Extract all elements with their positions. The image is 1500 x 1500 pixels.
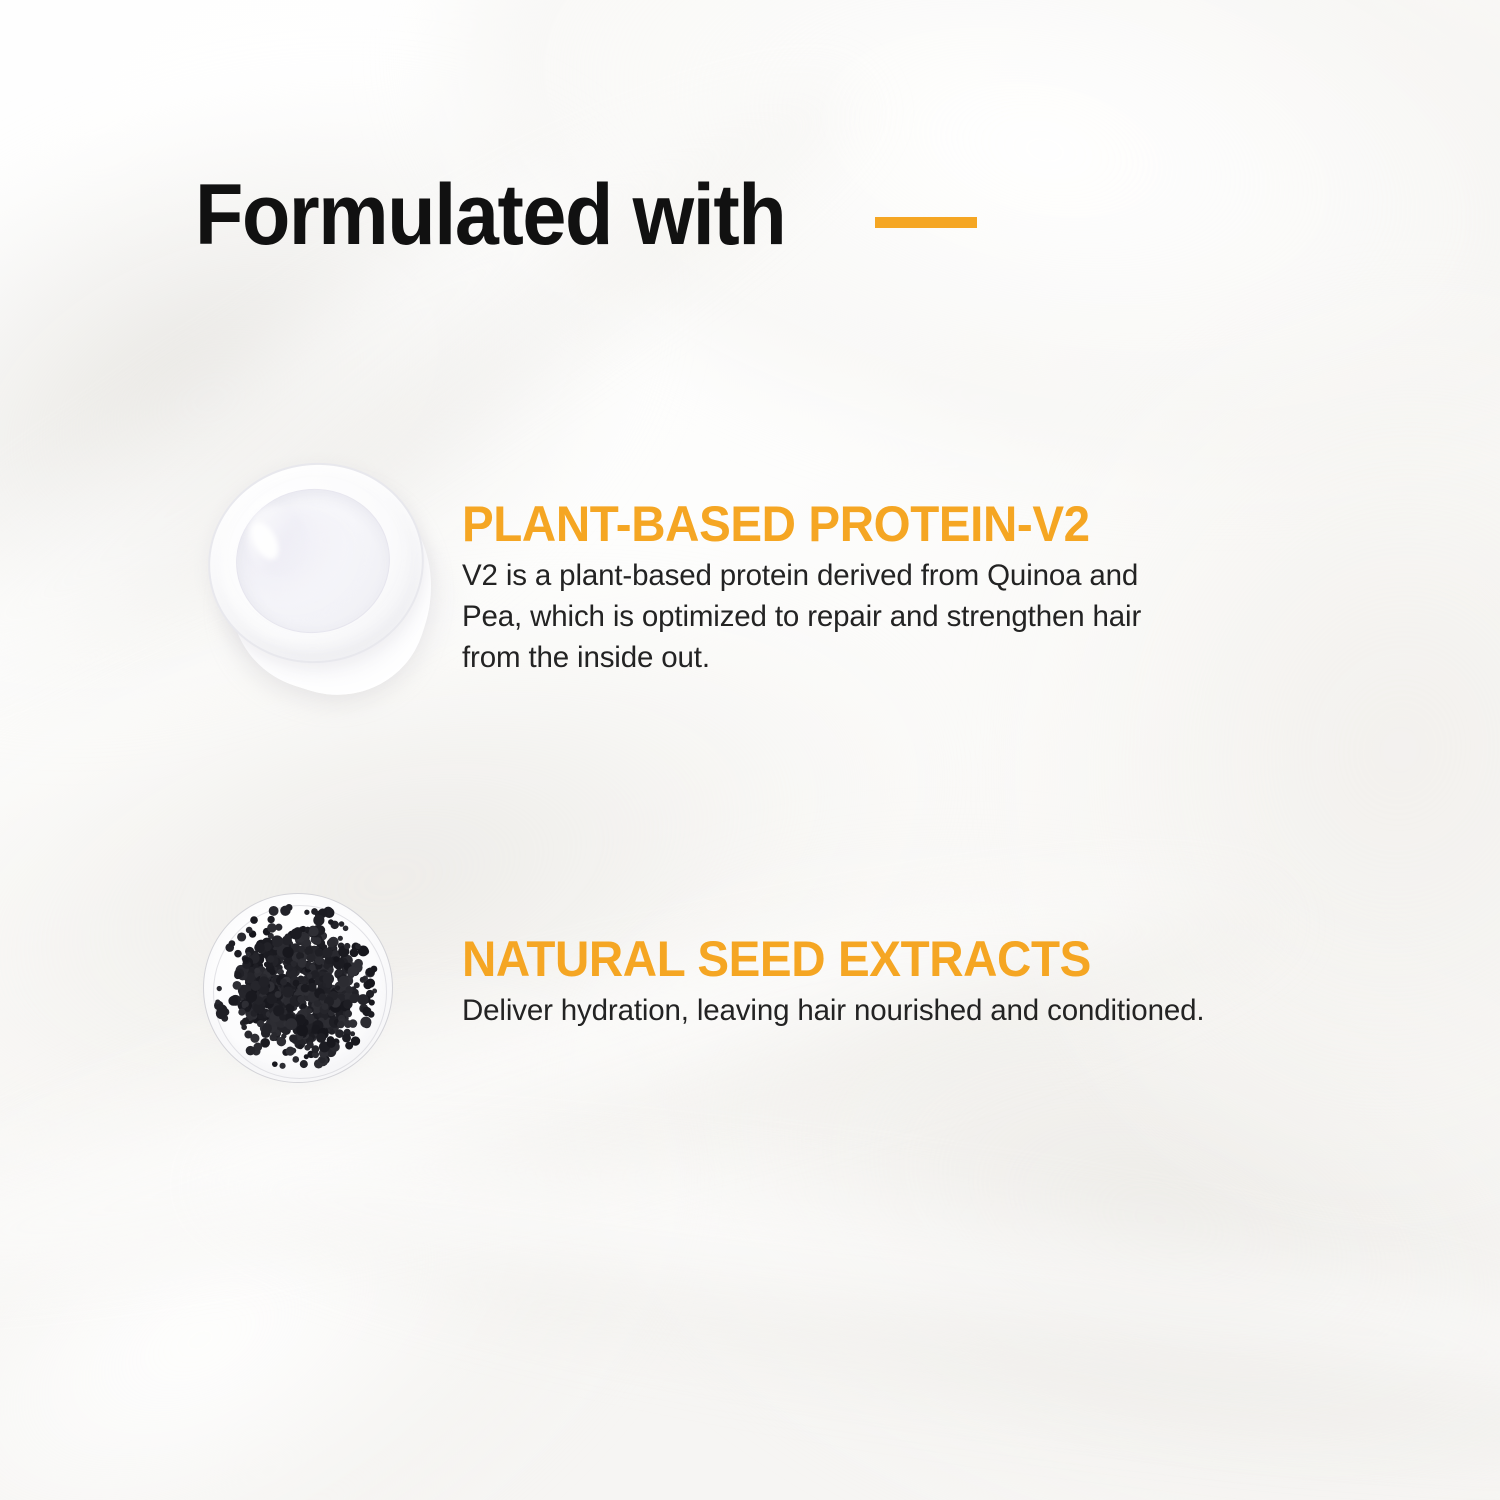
seed-cluster — [203, 893, 391, 1081]
ingredient-plant-based-protein-v2: PLANT-BASED PROTEIN-V2 V2 is a plant-bas… — [462, 498, 1262, 678]
clear-glass-vessel-photo — [190, 445, 460, 720]
page-title: Formulated with — [195, 172, 977, 258]
ingredient-description: Deliver hydration, leaving hair nourishe… — [462, 990, 1362, 1031]
page-title-text: Formulated with — [195, 172, 785, 258]
ingredient-natural-seed-extracts: NATURAL SEED EXTRACTS Deliver hydration,… — [462, 933, 1362, 1031]
title-dash-icon — [875, 217, 977, 228]
ingredient-heading: NATURAL SEED EXTRACTS — [462, 933, 1317, 986]
ingredient-heading: PLANT-BASED PROTEIN-V2 — [462, 498, 1222, 551]
ingredient-description: V2 is a plant-based protein derived from… — [462, 555, 1262, 678]
black-seeds-petri-dish-photo — [202, 890, 394, 1086]
product-ingredient-infographic: Formulated with PLANT-BASED PROTEIN-V2 V… — [0, 0, 1500, 1500]
